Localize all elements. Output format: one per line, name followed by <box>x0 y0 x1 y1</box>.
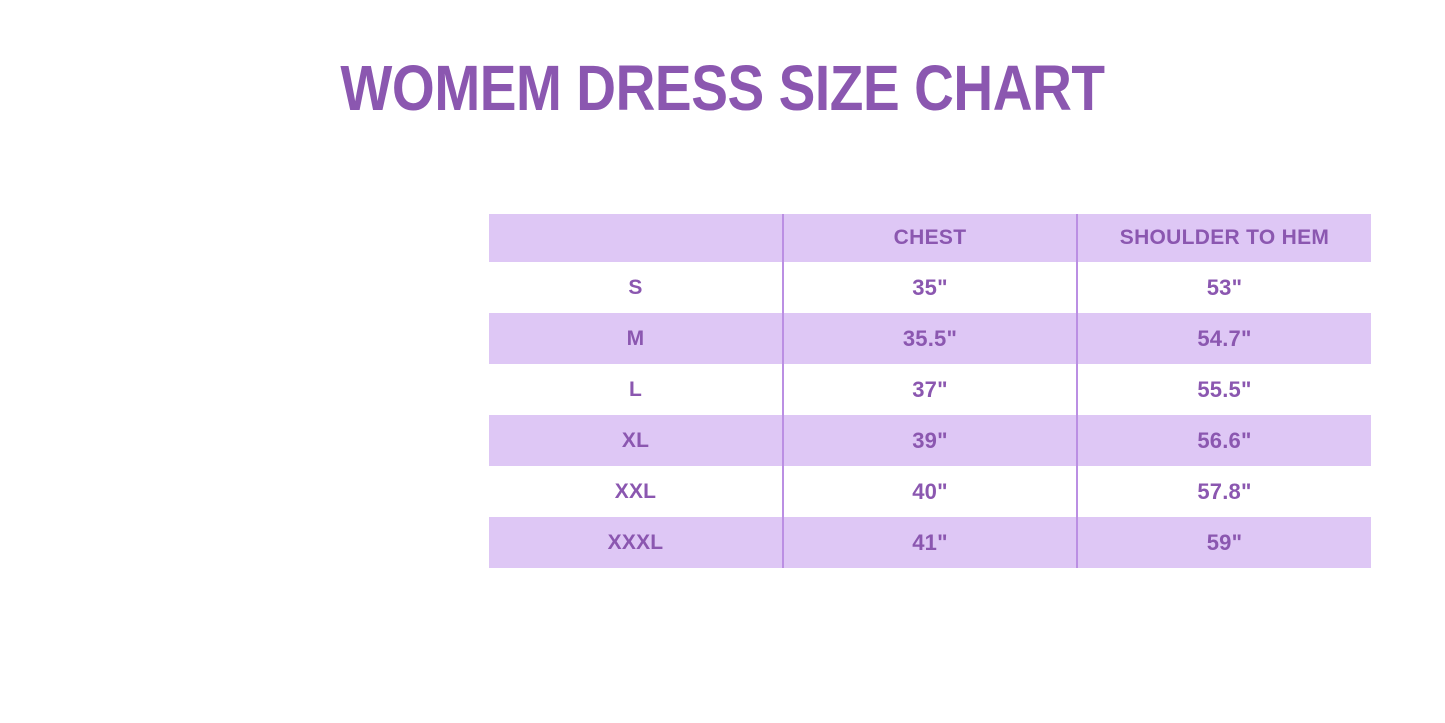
cell-size: S <box>489 262 783 313</box>
cell-chest: 37" <box>783 364 1077 415</box>
size-chart-table-container: CHEST SHOULDER TO HEM S 35" 53" M 35.5" … <box>489 214 1371 568</box>
table-row: XXL 40" 57.8" <box>489 466 1371 517</box>
size-chart-table: CHEST SHOULDER TO HEM S 35" 53" M 35.5" … <box>489 214 1371 568</box>
cell-chest: 40" <box>783 466 1077 517</box>
table-row: M 35.5" 54.7" <box>489 313 1371 364</box>
table-row: L 37" 55.5" <box>489 364 1371 415</box>
cell-shoulder-to-hem: 55.5" <box>1077 364 1371 415</box>
cell-chest: 39" <box>783 415 1077 466</box>
cell-size: L <box>489 364 783 415</box>
size-chart-page: WOMEM DRESS SIZE CHART CHEST SHOULDER TO… <box>0 0 1445 723</box>
table-row: XL 39" 56.6" <box>489 415 1371 466</box>
cell-shoulder-to-hem: 56.6" <box>1077 415 1371 466</box>
column-header-chest: CHEST <box>783 214 1077 262</box>
column-header-shoulder-to-hem: SHOULDER TO HEM <box>1077 214 1371 262</box>
table-body: S 35" 53" M 35.5" 54.7" L 37" 55.5" XL 3… <box>489 262 1371 568</box>
cell-size: M <box>489 313 783 364</box>
cell-size: XL <box>489 415 783 466</box>
cell-shoulder-to-hem: 54.7" <box>1077 313 1371 364</box>
cell-chest: 35" <box>783 262 1077 313</box>
cell-shoulder-to-hem: 59" <box>1077 517 1371 568</box>
table-header-row: CHEST SHOULDER TO HEM <box>489 214 1371 262</box>
table-row: XXXL 41" 59" <box>489 517 1371 568</box>
cell-shoulder-to-hem: 53" <box>1077 262 1371 313</box>
table-header: CHEST SHOULDER TO HEM <box>489 214 1371 262</box>
cell-size: XXXL <box>489 517 783 568</box>
column-header-size <box>489 214 783 262</box>
cell-chest: 41" <box>783 517 1077 568</box>
page-title: WOMEM DRESS SIZE CHART <box>101 52 1344 124</box>
cell-shoulder-to-hem: 57.8" <box>1077 466 1371 517</box>
cell-chest: 35.5" <box>783 313 1077 364</box>
cell-size: XXL <box>489 466 783 517</box>
table-row: S 35" 53" <box>489 262 1371 313</box>
